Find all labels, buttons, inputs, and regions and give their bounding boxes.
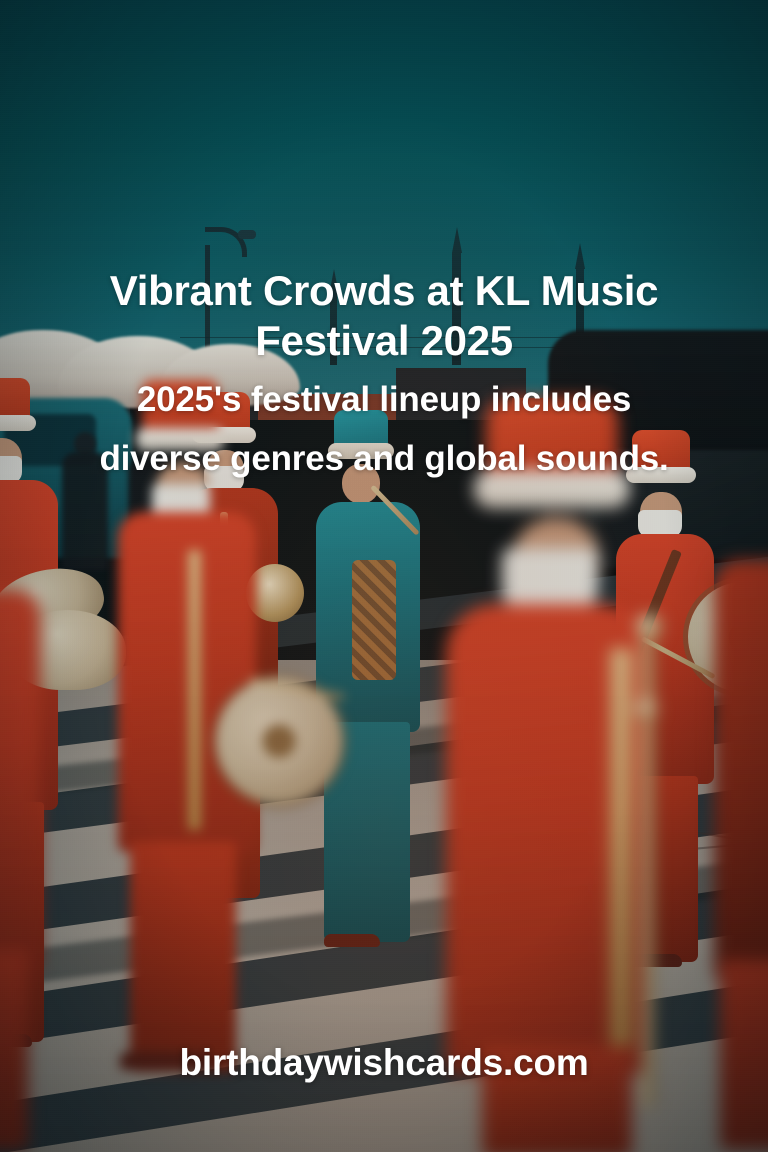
page-title: Vibrant Crowds at KL Music Festival 2025 (40, 266, 728, 366)
website-url: birthdaywishcards.com (0, 1040, 768, 1086)
social-media-card: Vibrant Crowds at KL Music Festival 2025… (0, 0, 768, 1152)
text-overlay: Vibrant Crowds at KL Music Festival 2025… (0, 0, 768, 1152)
subtitle: 2025's festival lineup includes diverse … (74, 370, 694, 488)
